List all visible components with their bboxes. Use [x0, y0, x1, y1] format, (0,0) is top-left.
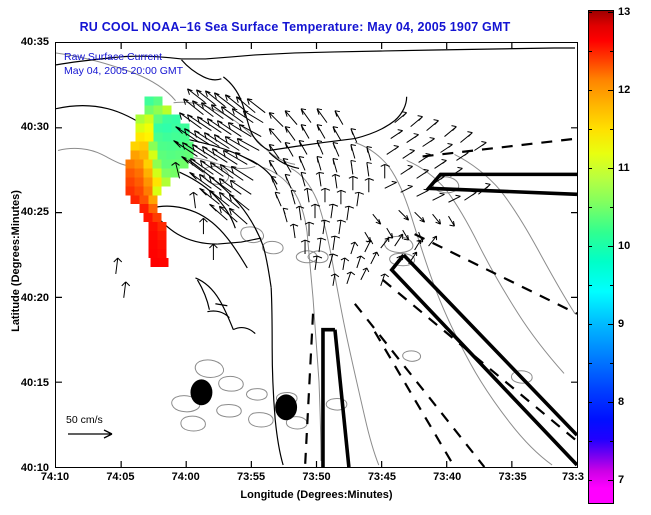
colorbar-tick-left — [588, 324, 592, 325]
vector-scale-label: 50 cm/s — [66, 414, 156, 426]
y-tick-label: 40:35 — [3, 36, 49, 48]
station-markers — [190, 379, 297, 420]
x-tick-label: 73:35 — [483, 471, 543, 483]
colorbar-tick-left — [588, 363, 592, 364]
colorbar-tick — [608, 480, 614, 481]
vector-scale-legend: 50 cm/s — [66, 414, 156, 445]
colorbar-tick — [608, 246, 614, 247]
colorbar-minor-tick — [610, 129, 614, 130]
x-tick-label: 73:45 — [352, 471, 412, 483]
colorbar-tick-label: 12 — [618, 84, 630, 96]
y-axis-tick-labels: 40:35 40:30 40:25 40:20 40:15 40:10 — [0, 42, 49, 468]
y-tick-label: 40:30 — [3, 121, 49, 133]
vector-scale-arrow-icon — [66, 428, 126, 440]
colorbar-tick-label: 11 — [618, 162, 630, 174]
figure-canvas: RU COOL NOAA–16 Sea Surface Temperature:… — [0, 0, 651, 515]
colorbar-tick-label: 7 — [618, 474, 624, 486]
colorbar-tick-label: 9 — [618, 318, 624, 330]
colorbar-tick — [608, 90, 614, 91]
colorbar-minor-tick — [610, 285, 614, 286]
colorbar-tick-left — [588, 480, 592, 481]
colorbar-tick-label: 13 — [618, 6, 630, 18]
colorbar-tick-left — [588, 90, 592, 91]
x-tick-label: 74:10 — [25, 471, 85, 483]
colorbar-tick — [608, 12, 614, 13]
colorbar-tick-left — [588, 12, 592, 13]
x-axis-label: Longitude (Degrees:Minutes) — [55, 489, 578, 501]
x-tick-label: 73:50 — [287, 471, 347, 483]
page-title: RU COOL NOAA–16 Sea Surface Temperature:… — [0, 20, 590, 34]
colorbar[interactable] — [588, 10, 614, 504]
colorbar-tick — [608, 168, 614, 169]
colorbar-tick-label: 8 — [618, 396, 624, 408]
colorbar-tick-left — [588, 402, 592, 403]
x-tick-label: 73:55 — [221, 471, 281, 483]
colorbar-minor-tick — [610, 51, 614, 52]
colorbar-gradient — [588, 10, 614, 504]
colorbar-tick-left — [588, 168, 592, 169]
colorbar-minor-tick — [610, 441, 614, 442]
colorbar-minor-tick — [610, 207, 614, 208]
colorbar-tick-left — [588, 285, 592, 286]
colorbar-tick-left — [588, 51, 592, 52]
x-tick-label: 73:40 — [417, 471, 477, 483]
colorbar-tick-label: 10 — [618, 240, 630, 252]
x-tick-label: 74:05 — [90, 471, 150, 483]
map-plot-area[interactable]: Raw Surface Current May 04, 2005 20:00 G… — [55, 42, 578, 468]
y-axis-label: Latitude (Degrees:Minutes) — [10, 141, 22, 381]
colorbar-tick-labels: 13 12 11 10 9 8 7 — [618, 10, 642, 504]
x-axis-tick-labels: 74:10 74:05 74:00 73:55 73:50 73:45 73:4… — [55, 471, 578, 487]
sst-pixels — [126, 97, 194, 267]
colorbar-tick-left — [588, 207, 592, 208]
map-graphics — [56, 43, 577, 467]
colorbar-tick-left — [588, 441, 592, 442]
colorbar-tick — [608, 324, 614, 325]
x-tick-label: 74:00 — [156, 471, 216, 483]
colorbar-tick-left — [588, 129, 592, 130]
bathymetry-contours — [56, 53, 575, 465]
colorbar-tick — [608, 402, 614, 403]
colorbar-tick-left — [588, 246, 592, 247]
colorbar-minor-tick — [610, 363, 614, 364]
